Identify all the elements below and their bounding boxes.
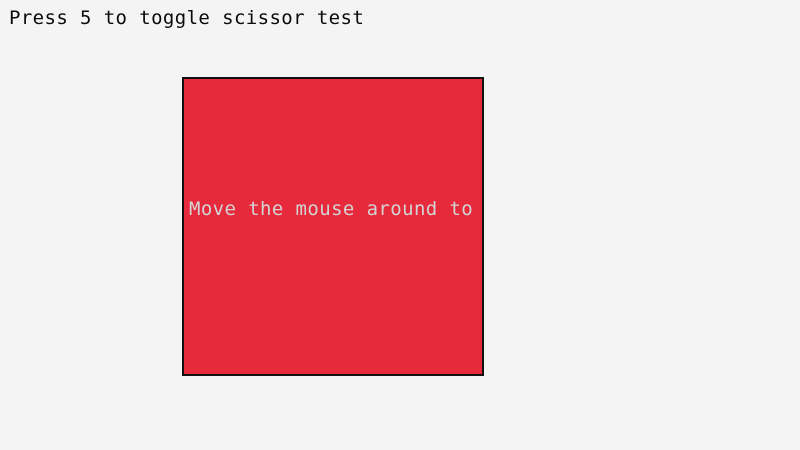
instruction-text: Press 5 to toggle scissor test [9, 6, 364, 30]
scissor-clipped-label: Move the mouse around to resize the scis… [189, 197, 484, 221]
scissor-rectangle[interactable]: Move the mouse around to resize the scis… [182, 77, 484, 376]
app-canvas: Press 5 to toggle scissor test Move the … [0, 0, 800, 450]
